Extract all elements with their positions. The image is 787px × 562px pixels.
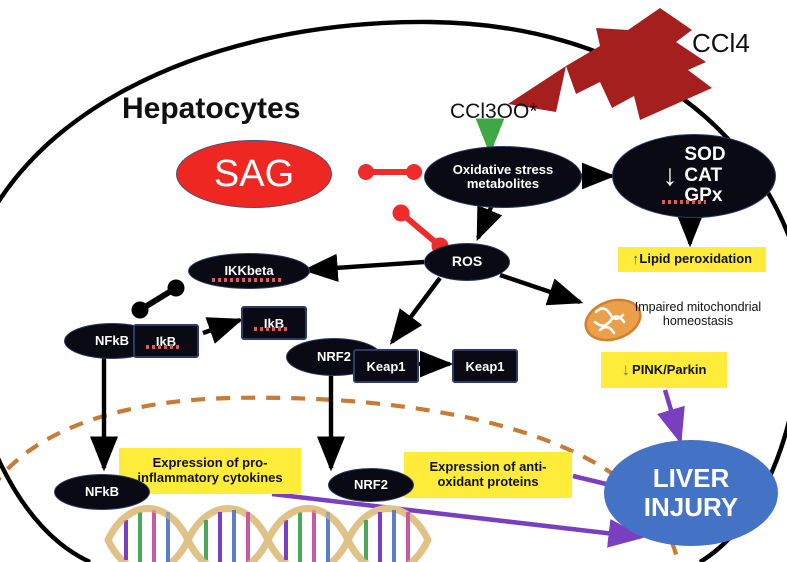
- arrow-mitophagy-to-liverinjury: [665, 390, 680, 440]
- enzyme-down-arrow-icon: ↓: [662, 163, 677, 189]
- liver-injury-node[interactable]: LIVER INJURY: [604, 440, 778, 546]
- ros-node[interactable]: ROS: [424, 243, 510, 281]
- nfkb-label: NFkB: [95, 334, 129, 348]
- pathway-diagram: Hepatocytes CCl4 CCl3OO* SAG Oxidative s…: [0, 0, 787, 562]
- ikb-bound-label: IkB: [156, 334, 176, 349]
- lipid-peroxidation-label: Lipid peroxidation: [639, 252, 752, 267]
- arrow-ros-to-ikkbeta: [306, 262, 424, 270]
- nrf2-nucleus-node[interactable]: NRF2: [328, 468, 414, 502]
- ccl3oo-radical-label: CCl3OO*: [450, 100, 538, 124]
- ikkbeta-label: IKKbeta: [224, 264, 273, 278]
- arrow-ikb-release: [203, 320, 240, 333]
- keap1-bound-label: Keap1: [366, 359, 405, 374]
- nfkb-nucleus-label: NFkB: [85, 485, 119, 499]
- ikkbeta-node[interactable]: IKKbeta: [188, 253, 310, 289]
- dna-helix-icon: [108, 509, 428, 562]
- oxidative-stress-label: Oxidative stress metabolites: [453, 163, 553, 191]
- oxidative-stress-node[interactable]: Oxidative stress metabolites: [424, 146, 582, 208]
- nrf2-label: NRF2: [317, 350, 351, 364]
- ccl4-label: CCl4: [692, 28, 750, 59]
- keap1-free-node[interactable]: Keap1: [452, 349, 518, 383]
- keap1-free-label: Keap1: [465, 359, 504, 374]
- arrow-ros-to-keap1: [392, 278, 440, 342]
- mitochondria-caption: Impaired mitochondrial homeostasis: [613, 300, 783, 328]
- arrow-ros-to-mitochondria: [500, 275, 580, 302]
- liver-injury-label: LIVER INJURY: [644, 464, 738, 522]
- ikb-free-node[interactable]: IkB: [241, 306, 307, 340]
- pink-parkin-label: PINK/Parkin: [632, 363, 706, 378]
- nrf2-nucleus-label: NRF2: [354, 478, 388, 492]
- inhibition-ikkbeta-to-nfkb: [132, 280, 185, 319]
- anti-oxidant-box: Expression of anti- oxidant proteins: [404, 452, 572, 498]
- nfkb-nucleus-node[interactable]: NFkB: [54, 474, 150, 510]
- sag-node[interactable]: SAG: [176, 140, 332, 208]
- ros-label: ROS: [452, 254, 482, 269]
- pink-parkin-box: ↓ PINK/Parkin: [601, 352, 727, 388]
- antioxidant-enzymes-node[interactable]: ↓ SOD CAT GPx: [612, 134, 776, 218]
- ikb-bound-node[interactable]: IkB: [133, 324, 199, 358]
- inhibition-sag-to-oxidative-stress: [358, 164, 422, 180]
- lipid-peroxidation-up-arrow-icon: ↑: [632, 251, 640, 268]
- ikb-free-label: IkB: [264, 316, 284, 331]
- lipid-peroxidation-box: ↑ Lipid peroxidation: [618, 247, 766, 272]
- antioxidant-enzymes-label: SOD CAT GPx: [684, 145, 725, 207]
- pink-parkin-down-arrow-icon: ↓: [622, 360, 631, 380]
- keap1-bound-node[interactable]: Keap1: [353, 349, 419, 383]
- cell-title: Hepatocytes: [122, 92, 300, 126]
